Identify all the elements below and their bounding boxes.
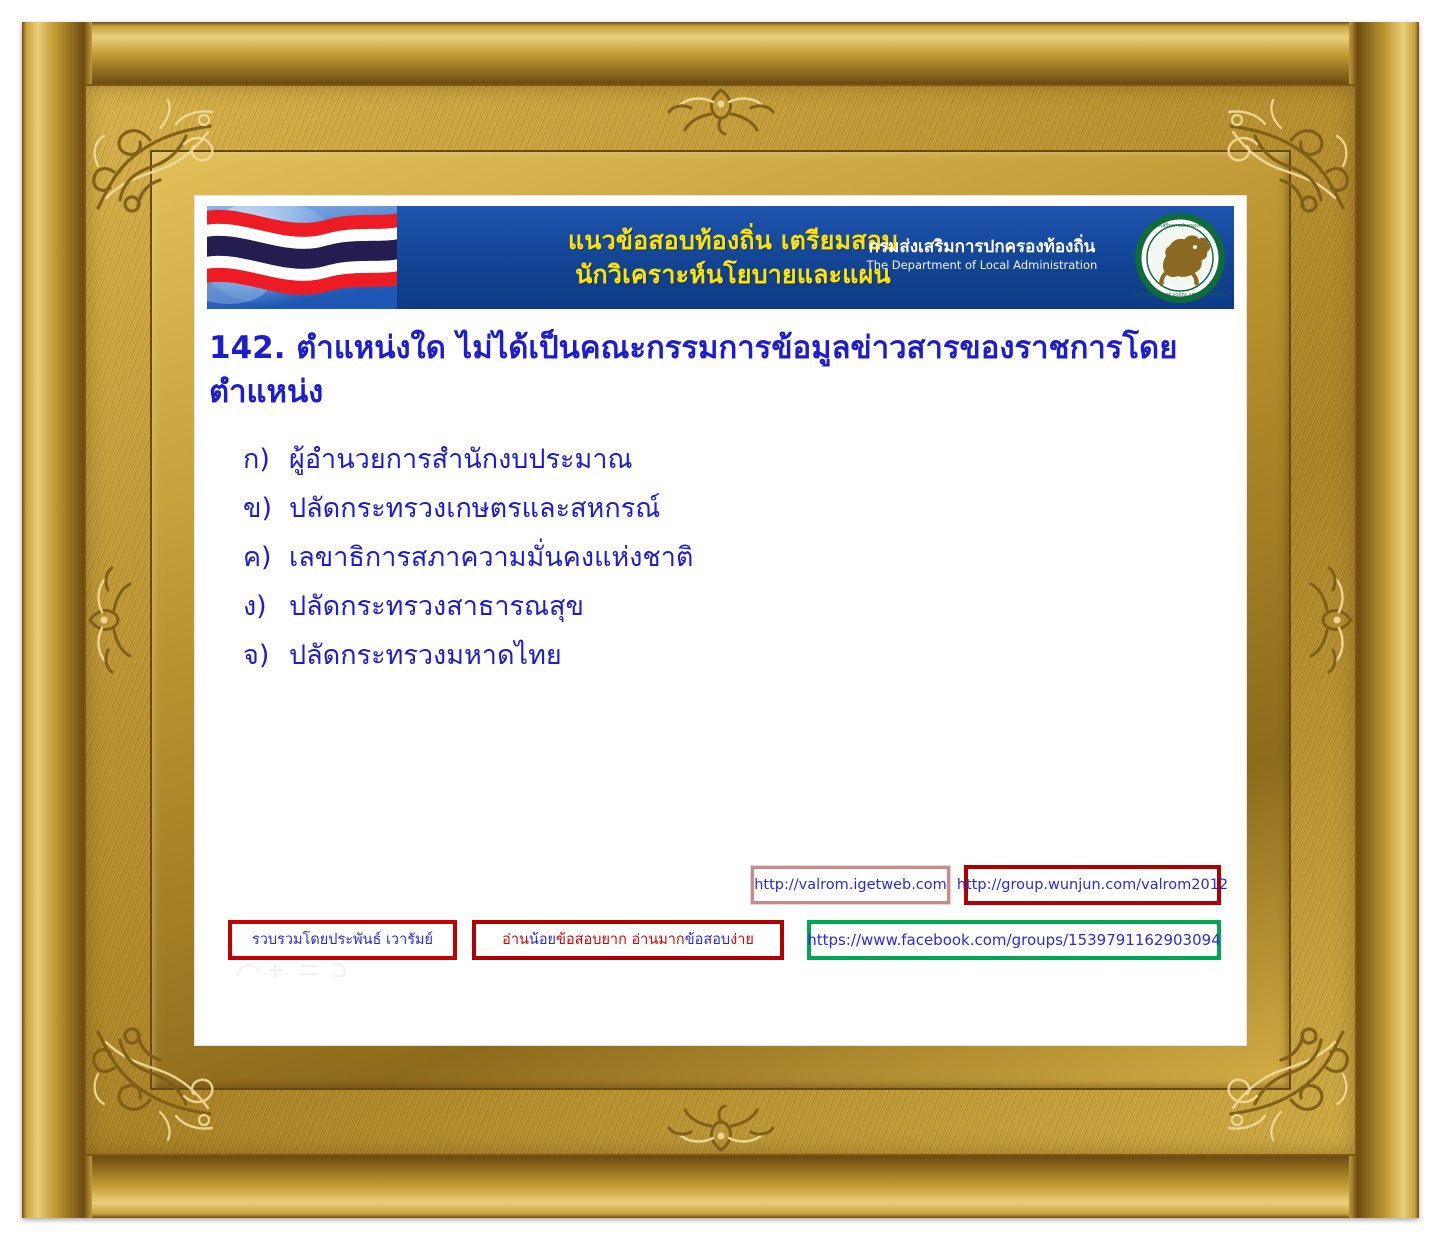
option-label: ปลัดกระทรวงสาธารณสุข bbox=[289, 593, 1193, 620]
answer-option-kho2[interactable]: ค) เลขาธิการสภาความมั่นคงแห่งชาติ bbox=[243, 544, 1193, 571]
option-key: ข) bbox=[243, 495, 289, 522]
motto-part-7: ข้อสอบ bbox=[685, 932, 730, 948]
department-name-english: The Department of Local Administration bbox=[848, 258, 1116, 273]
department-name-thai: กรมส่งเสริมการปกครองท้องถิ่น bbox=[848, 238, 1116, 258]
link-text-facebook: https://www.facebook.com/groups/15397911… bbox=[807, 933, 1220, 948]
svg-text:กรมส่งเสริมการปกครองท้องถิ่น: กรมส่งเสริมการปกครองท้องถิ่น bbox=[1145, 222, 1215, 229]
option-key: ง) bbox=[243, 593, 289, 620]
slide-canvas: แนวข้อสอบท้องถิ่น เตรียมสอบ นักวิเคราะห์… bbox=[195, 196, 1246, 1045]
study-motto-text: อ่านน้อยข้อสอบยาก อ่านมากข้อสอบง่าย bbox=[502, 933, 754, 948]
motto-part-5: อ่าน bbox=[627, 932, 658, 948]
link-box-facebook[interactable]: https://www.facebook.com/groups/15397911… bbox=[807, 920, 1221, 960]
thai-flag-image bbox=[207, 206, 397, 309]
answer-option-cho[interactable]: จ) ปลัดกระทรวงมหาดไทย bbox=[243, 642, 1193, 669]
motto-part-2: น้อย bbox=[529, 932, 556, 948]
option-label: ผู้อำนวยการสำนักงบประมาณ bbox=[289, 446, 1193, 473]
author-credit-text: รวบรวมโดยประพันธ์ เวารัมย์ bbox=[252, 933, 433, 948]
link-box-igetweb[interactable]: http://valrom.igetweb.com bbox=[751, 866, 950, 904]
motto-part-1: อ่าน bbox=[502, 932, 529, 948]
answer-options-list: ก) ผู้อำนวยการสำนักงบประมาณ ข) ปลัดกระทร… bbox=[243, 446, 1193, 691]
answer-option-kho[interactable]: ข) ปลัดกระทรวงเกษตรและสหกรณ์ bbox=[243, 495, 1193, 522]
question-block: 142. ตำแหน่งใด ไม่ได้เป็นคณะกรรมการข้อมู… bbox=[209, 326, 1219, 414]
answer-option-ka[interactable]: ก) ผู้อำนวยการสำนักงบประมาณ bbox=[243, 446, 1193, 473]
frame-rail-left bbox=[22, 22, 92, 1218]
option-key: ก) bbox=[243, 446, 289, 473]
department-seal-icon: กรมส่งเสริมการปกครองท้องถิ่น DEPARTMENT … bbox=[1134, 212, 1226, 304]
motto-part-6: มาก bbox=[658, 932, 684, 948]
motto-part-3: ข้อสอบ bbox=[556, 932, 601, 948]
frame-rail-bottom bbox=[22, 1148, 1419, 1218]
study-motto-box[interactable]: อ่านน้อยข้อสอบยาก อ่านมากข้อสอบง่าย bbox=[472, 920, 784, 960]
question-text: 142. ตำแหน่งใด ไม่ได้เป็นคณะกรรมการข้อมู… bbox=[209, 326, 1219, 414]
frame-rail-top bbox=[22, 22, 1419, 92]
department-name-group: กรมส่งเสริมการปกครองท้องถิ่น The Departm… bbox=[848, 238, 1116, 272]
frame-rail-right bbox=[1349, 22, 1419, 1218]
option-label: เลขาธิการสภาความมั่นคงแห่งชาติ bbox=[289, 544, 1193, 571]
option-label: ปลัดกระทรวงเกษตรและสหกรณ์ bbox=[289, 495, 1193, 522]
option-key: จ) bbox=[243, 642, 289, 669]
answer-option-ngo[interactable]: ง) ปลัดกระทรวงสาธารณสุข bbox=[243, 593, 1193, 620]
author-credit-box[interactable]: รวบรวมโดยประพันธ์ เวารัมย์ bbox=[228, 920, 457, 960]
link-box-wunjun[interactable]: http://group.wunjun.com/valrom2012 bbox=[964, 865, 1221, 905]
option-label: ปลัดกระทรวงมหาดไทย bbox=[289, 642, 1193, 669]
motto-part-4: ยาก bbox=[601, 932, 626, 948]
link-text-wunjun: http://group.wunjun.com/valrom2012 bbox=[957, 878, 1228, 893]
exam-banner: แนวข้อสอบท้องถิ่น เตรียมสอบ นักวิเคราะห์… bbox=[207, 206, 1234, 309]
motto-part-8: ง่าย bbox=[730, 932, 754, 948]
watermark-artifact bbox=[231, 958, 441, 984]
svg-text:DEPARTMENT OF LOCAL ADMINISTRA: DEPARTMENT OF LOCAL ADMINISTRATION bbox=[1134, 292, 1226, 297]
option-key: ค) bbox=[243, 544, 289, 571]
link-text-igetweb: http://valrom.igetweb.com bbox=[754, 878, 947, 893]
banner-title-line2: นักวิเคราะห์นโยบายและแผน bbox=[575, 258, 891, 292]
